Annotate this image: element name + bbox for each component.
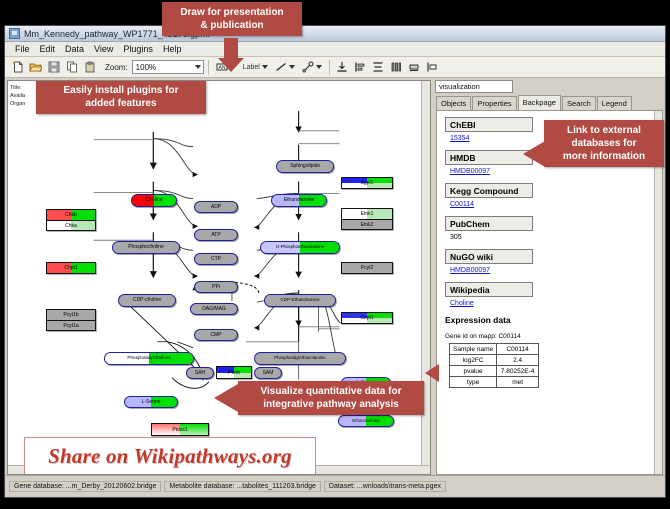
group-icon[interactable] bbox=[406, 59, 423, 76]
menu-item-edit[interactable]: Edit bbox=[35, 42, 61, 56]
save-icon[interactable] bbox=[45, 59, 62, 76]
status-bar: Gene database: ...m_Derby_20120602.bridg… bbox=[5, 475, 665, 497]
tab-legend[interactable]: Legend bbox=[597, 96, 632, 110]
application-window: Mm_Kennedy_pathway_WP1771_45176.gpml Fil… bbox=[4, 25, 666, 498]
node-label: Phosphatidylethanolamine bbox=[274, 356, 326, 360]
distribute-horizontal-icon[interactable] bbox=[388, 59, 405, 76]
node-cmp[interactable]: CMP bbox=[194, 329, 238, 341]
cell-label: pvalue bbox=[450, 366, 497, 377]
node-label: SAM bbox=[263, 371, 274, 376]
visualize-callout: Visualize quantitative data for integrat… bbox=[238, 381, 424, 415]
node-label: Phosphatidylcholines bbox=[127, 356, 170, 361]
db-value-pubchem: 305 bbox=[450, 234, 654, 241]
node-label: Cept1 bbox=[360, 315, 373, 321]
draw-callout-arrow bbox=[218, 58, 244, 72]
plugins-callout-line1: Easily install plugins for bbox=[44, 84, 198, 97]
node-chka[interactable]: Chka bbox=[46, 220, 96, 231]
node-label: ATP bbox=[211, 233, 220, 238]
new-file-icon[interactable] bbox=[9, 59, 26, 76]
zoom-combobox[interactable]: 100% bbox=[132, 60, 204, 74]
cell-value: 2.4 bbox=[497, 355, 539, 366]
menu-item-data[interactable]: Data bbox=[60, 42, 89, 56]
gene-id-on-mapp: Gene id on mapp: C00114 bbox=[445, 333, 654, 340]
copy-icon[interactable] bbox=[63, 59, 80, 76]
table-row: Sample name C00114 bbox=[450, 344, 539, 355]
menu-item-plugins[interactable]: Plugins bbox=[118, 42, 158, 56]
draw-callout-line2: & publication bbox=[170, 19, 294, 32]
line-dropdown[interactable] bbox=[272, 59, 298, 76]
label-dropdown[interactable]: Label bbox=[240, 59, 271, 76]
table-row: log2FC 2.4 bbox=[450, 355, 539, 366]
node-phosphatidylcholines[interactable]: Phosphatidylcholines bbox=[104, 352, 194, 365]
plugins-callout: Easily install plugins for added feature… bbox=[36, 80, 206, 114]
status-metabolite-database: Metabolite database: ...tabolites_111203… bbox=[164, 481, 320, 492]
expression-callout-arrow bbox=[425, 364, 439, 382]
db-header-hmdb: HMDB bbox=[445, 150, 533, 165]
canvas-vertical-scrollbar[interactable] bbox=[421, 81, 430, 474]
menu-item-help[interactable]: Help bbox=[158, 42, 187, 56]
menu-item-file[interactable]: File bbox=[10, 42, 35, 56]
anchor-dropdown[interactable] bbox=[299, 59, 325, 76]
zoom-label: Zoom: bbox=[105, 63, 128, 72]
chevron-down-icon bbox=[289, 65, 295, 69]
tab-backpage[interactable]: Backpage bbox=[518, 95, 561, 110]
share-banner: Share on Wikipathways.org bbox=[24, 437, 316, 475]
node-label: CDP-Ethanolamine bbox=[280, 298, 319, 303]
chevron-down-icon bbox=[195, 65, 201, 69]
tab-properties[interactable]: Properties bbox=[472, 96, 516, 110]
node-label: DAG/MAG bbox=[202, 307, 226, 312]
align-left-icon[interactable] bbox=[352, 59, 369, 76]
db-header-kegg-compound: Kegg Compound bbox=[445, 183, 533, 198]
db-header-chebi: ChEBI bbox=[445, 117, 533, 132]
visualize-callout-line1: Visualize quantitative data for bbox=[246, 385, 416, 398]
node-label: Sgpl1 bbox=[361, 180, 374, 186]
side-panel-tabs: Objects Properties Backpage Search Legen… bbox=[433, 96, 663, 110]
node-ethanolamine-top[interactable]: Ethanolamine bbox=[271, 194, 327, 207]
node-label: SAH bbox=[195, 371, 205, 376]
expression-data-table: Sample name C00114 log2FC 2.4 pvalue 7.8… bbox=[449, 343, 539, 388]
node-choline-top[interactable]: Choline bbox=[131, 194, 177, 207]
expression-data-heading: Expression data bbox=[445, 315, 654, 325]
node-ctp[interactable]: CTP bbox=[194, 253, 238, 265]
label-button-text: Label bbox=[243, 64, 260, 71]
node-label: Ethanolamine bbox=[284, 198, 315, 203]
db-header-wikipedia: Wikipedia bbox=[445, 282, 533, 297]
chevron-down-icon bbox=[316, 65, 322, 69]
cell-label: Sample name bbox=[450, 344, 497, 355]
screenshot-root: Mm_Kennedy_pathway_WP1771_45176.gpml Fil… bbox=[0, 0, 670, 509]
tab-search[interactable]: Search bbox=[562, 96, 596, 110]
draw-callout-line1: Draw for presentation bbox=[170, 6, 294, 19]
db-header-pubchem: PubChem bbox=[445, 216, 533, 231]
node-pcyt2[interactable]: Pcyt2 bbox=[341, 262, 393, 274]
draw-callout-stem bbox=[224, 38, 238, 60]
node-label: Sphingolipids bbox=[290, 164, 320, 169]
node-label: Etnk2 bbox=[361, 222, 374, 228]
ungroup-icon[interactable] bbox=[424, 59, 441, 76]
distribute-vertical-icon[interactable] bbox=[370, 59, 387, 76]
toolbar-separator bbox=[329, 60, 330, 75]
node-etnk1[interactable]: Etnk1 bbox=[341, 208, 393, 219]
node-label: CMP bbox=[210, 333, 221, 338]
cell-value: C00114 bbox=[497, 344, 539, 355]
links-callout-line3: more information bbox=[552, 150, 656, 163]
visualization-combobox[interactable]: visualization bbox=[435, 80, 513, 93]
node-label: Chkb bbox=[65, 212, 77, 218]
node-atp[interactable]: ATP bbox=[194, 229, 238, 241]
menu-bar: File Edit Data View Plugins Help bbox=[5, 42, 665, 57]
db-link-wikipedia[interactable]: Choline bbox=[450, 300, 654, 307]
db-link-nugo-wiki[interactable]: HMDB00097 bbox=[450, 267, 654, 274]
node-label: Ptdss1 bbox=[172, 427, 187, 433]
node-ppi[interactable]: PPi bbox=[194, 281, 238, 293]
zoom-value: 100% bbox=[136, 63, 156, 72]
node-label: Choline bbox=[146, 198, 163, 203]
node-ptdss1[interactable]: Ptdss1 bbox=[151, 423, 209, 436]
pathway-canvas-panel[interactable]: Title: Availa Organ bbox=[7, 80, 431, 475]
app-icon bbox=[9, 28, 20, 39]
node-label: Chka bbox=[65, 223, 77, 229]
node-pemt[interactable]: Pemt bbox=[216, 366, 252, 379]
node-label: Etnk1 bbox=[361, 211, 374, 217]
node-sphingolipids[interactable]: Sphingolipids bbox=[276, 160, 334, 173]
node-label: O-Phosphoethanolamine bbox=[276, 245, 325, 249]
node-sah[interactable]: SAH bbox=[186, 367, 214, 379]
node-phosphatidylethanolamine[interactable]: Phosphatidylethanolamine bbox=[254, 352, 346, 365]
visualize-callout-line2: integrative pathway analysis bbox=[246, 398, 416, 411]
node-label: CDP-choline bbox=[133, 298, 161, 303]
node-chpt1[interactable]: Chpt1 bbox=[46, 262, 96, 274]
node-label: Ethanolamine bbox=[352, 419, 380, 424]
node-label: Pcyt1a bbox=[63, 323, 78, 329]
status-dataset: Dataset: ...wnloads\trans-meta.pgex bbox=[324, 481, 446, 492]
cell-label: type bbox=[450, 377, 497, 388]
chevron-down-icon bbox=[262, 65, 268, 69]
node-label: Pemt bbox=[228, 370, 240, 376]
node-sgpl1[interactable]: Sgpl1 bbox=[341, 177, 393, 189]
db-link-hmdb[interactable]: HMDB00097 bbox=[450, 168, 654, 175]
menu-item-view[interactable]: View bbox=[89, 42, 118, 56]
open-folder-icon[interactable] bbox=[27, 59, 44, 76]
links-callout-line1: Link to external bbox=[552, 124, 656, 137]
links-callout-line2: databases for bbox=[552, 137, 656, 150]
node-label: Chpt1 bbox=[64, 265, 77, 271]
cell-label: log2FC bbox=[450, 355, 497, 366]
node-chkb[interactable]: Chkb bbox=[46, 209, 96, 220]
table-row: type met bbox=[450, 377, 539, 388]
share-banner-text: Share on Wikipathways.org bbox=[48, 444, 292, 469]
node-etnk2[interactable]: Etnk2 bbox=[341, 219, 393, 230]
node-label: Phosphocholine bbox=[128, 245, 164, 250]
node-cdp-choline[interactable]: CDP-choline bbox=[118, 294, 176, 307]
cell-value: met bbox=[497, 377, 539, 388]
table-row: pvalue 7.80252E-4 bbox=[450, 366, 539, 377]
node-cdp-ethanolamine[interactable]: CDP-Ethanolamine bbox=[264, 294, 336, 307]
node-phosphocholine[interactable]: Phosphocholine bbox=[112, 241, 180, 254]
node-pcyt1a[interactable]: Pcyt1a bbox=[46, 320, 96, 331]
node-label: Pcyt1b bbox=[63, 312, 78, 318]
node-adp[interactable]: ADP bbox=[194, 201, 238, 213]
pathway-canvas[interactable]: Title: Availa Organ bbox=[8, 81, 430, 474]
node-o-phosphoethanolamine[interactable]: O-Phosphoethanolamine bbox=[260, 241, 340, 254]
node-label: L-Serine bbox=[142, 400, 161, 405]
tab-objects[interactable]: Objects bbox=[436, 96, 471, 110]
tool-bar: Zoom: 100% AN Label bbox=[5, 57, 665, 78]
db-header-nugo-wiki: NuGO wiki bbox=[445, 249, 533, 264]
status-gene-database: Gene database: ...m_Derby_20120602.bridg… bbox=[9, 481, 161, 492]
node-label: CTP bbox=[211, 257, 221, 262]
links-callout: Link to external databases for more info… bbox=[544, 120, 664, 167]
plugins-callout-line2: added features bbox=[44, 97, 198, 110]
plugins-callout-arrow bbox=[84, 80, 110, 81]
visualize-callout-arrow bbox=[214, 384, 238, 412]
node-cept1[interactable]: Cept1 bbox=[341, 312, 393, 324]
visualization-value: visualization bbox=[439, 82, 480, 91]
node-sam[interactable]: SAM bbox=[254, 367, 282, 379]
paste-icon[interactable] bbox=[81, 59, 98, 76]
node-l-serine-left[interactable]: L-Serine bbox=[124, 396, 178, 408]
cell-value: 7.80252E-4 bbox=[497, 366, 539, 377]
node-label: ADP bbox=[211, 205, 221, 210]
node-label: Pcyt2 bbox=[361, 265, 374, 271]
links-callout-stem bbox=[540, 147, 548, 161]
node-pcyt1b[interactable]: Pcyt1b bbox=[46, 309, 96, 320]
node-label: PPi bbox=[212, 285, 220, 290]
align-bottom-icon[interactable] bbox=[334, 59, 351, 76]
node-dag-mag[interactable]: DAG/MAG bbox=[190, 303, 238, 315]
draw-callout: Draw for presentation & publication bbox=[162, 2, 302, 36]
title-bar: Mm_Kennedy_pathway_WP1771_45176.gpml bbox=[5, 26, 665, 42]
toolbar-separator bbox=[208, 60, 209, 75]
node-ethanolamine-bottom[interactable]: Ethanolamine bbox=[338, 415, 394, 427]
db-link-kegg-compound[interactable]: C00114 bbox=[450, 201, 654, 208]
